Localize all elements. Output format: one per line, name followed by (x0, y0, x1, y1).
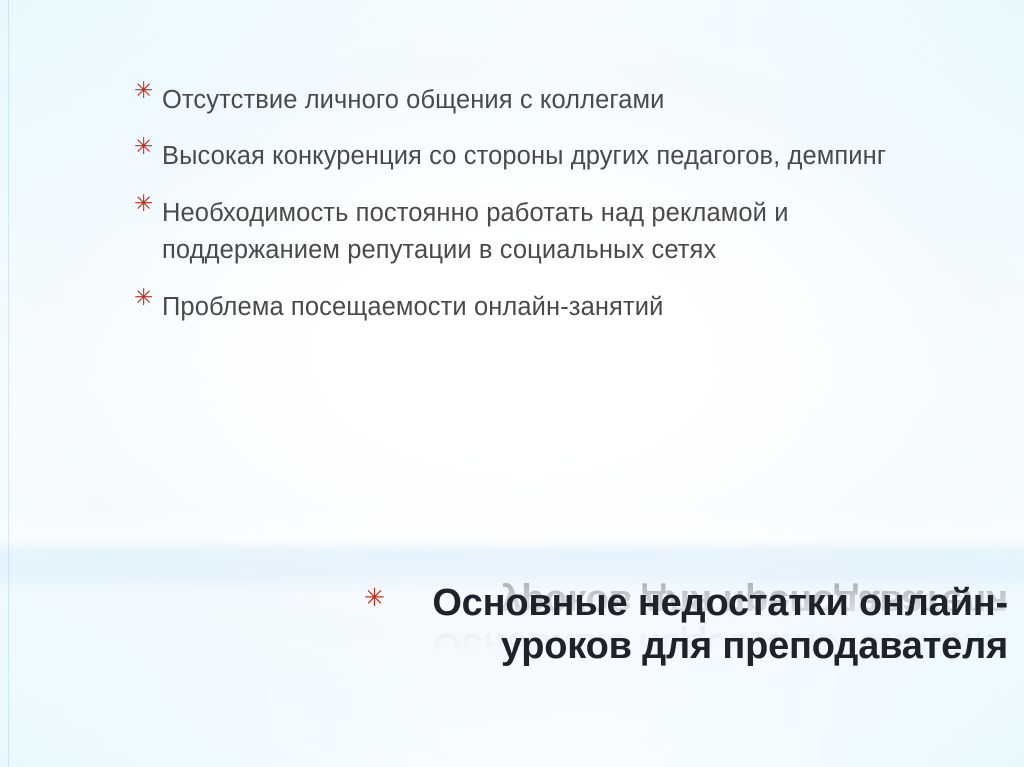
bullet-list: ✳ Отсутствие личного общения с коллегами… (132, 82, 902, 345)
slide-title-block: ✳ Основные недостатки онлайн- уроков для… (356, 582, 1008, 752)
asterisk-bullet-icon: ✳ (134, 79, 153, 102)
list-item: ✳ Необходимость постоянно работать над р… (132, 195, 902, 270)
list-item-label: Отсутствие личного общения с коллегами (162, 82, 902, 119)
list-item: ✳ Проблема посещаемости онлайн-занятий (132, 289, 902, 326)
slide-canvas: ✳ Отсутствие личного общения с коллегами… (0, 0, 1024, 767)
list-item-label: Проблема посещаемости онлайн-занятий (162, 289, 902, 326)
page-title: Основные недостатки онлайн- уроков для п… (356, 582, 1008, 667)
asterisk-bullet-icon: ✳ (134, 286, 153, 309)
asterisk-bullet-icon: ✳ (134, 135, 153, 158)
asterisk-bullet-icon: ✳ (134, 192, 153, 215)
list-item: ✳ Высокая конкуренция со стороны других … (132, 138, 902, 175)
list-item: ✳ Отсутствие личного общения с коллегами (132, 82, 902, 119)
left-edge-rule (8, 0, 9, 767)
list-item-label: Высокая конкуренция со стороны других пе… (162, 138, 902, 175)
asterisk-bullet-icon: ✳ (364, 586, 385, 611)
list-item-label: Необходимость постоянно работать над рек… (162, 195, 902, 270)
